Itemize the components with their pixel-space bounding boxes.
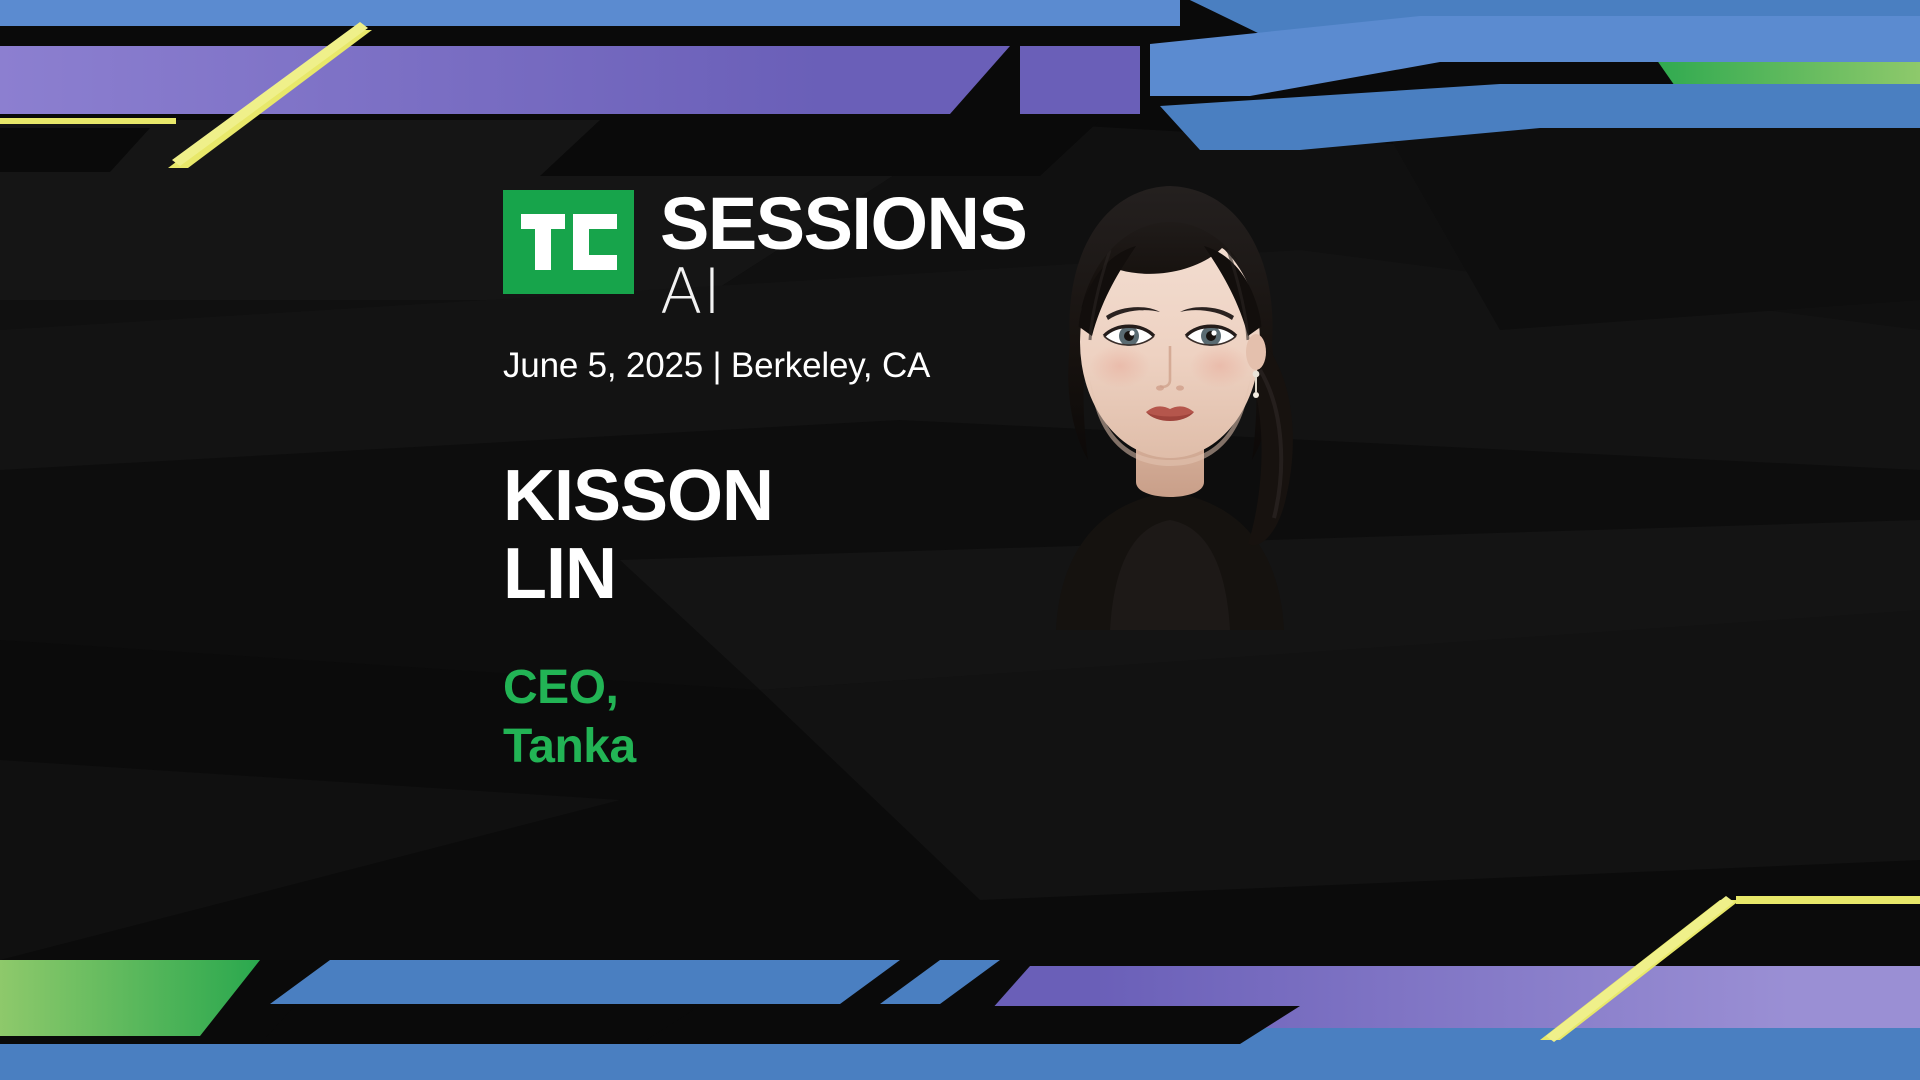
event-brand-subtitle: AI <box>660 259 1026 324</box>
tc-mark-glyph <box>521 214 617 270</box>
speaker-last-name: LIN <box>503 536 1283 614</box>
speaker-announcement-card: SESSIONS AI June 5, 2025 | Berkeley, CA … <box>0 0 1920 1080</box>
event-wordmark: SESSIONS AI <box>660 190 1026 324</box>
speaker-company: Tanka <box>503 718 1283 777</box>
speaker-title: CEO, <box>503 659 1283 718</box>
event-date-location: June 5, 2025 | Berkeley, CA <box>503 346 1283 386</box>
event-brand-name: SESSIONS <box>660 194 1026 255</box>
speaker-role: CEO, Tanka <box>503 659 1283 776</box>
speaker-first-name: KISSON <box>503 458 1283 536</box>
speaker-name: KISSON LIN <box>503 458 1283 614</box>
techcrunch-logo-icon <box>503 190 634 294</box>
event-logo: SESSIONS AI <box>503 190 1283 324</box>
content-block: SESSIONS AI June 5, 2025 | Berkeley, CA … <box>503 190 1283 776</box>
